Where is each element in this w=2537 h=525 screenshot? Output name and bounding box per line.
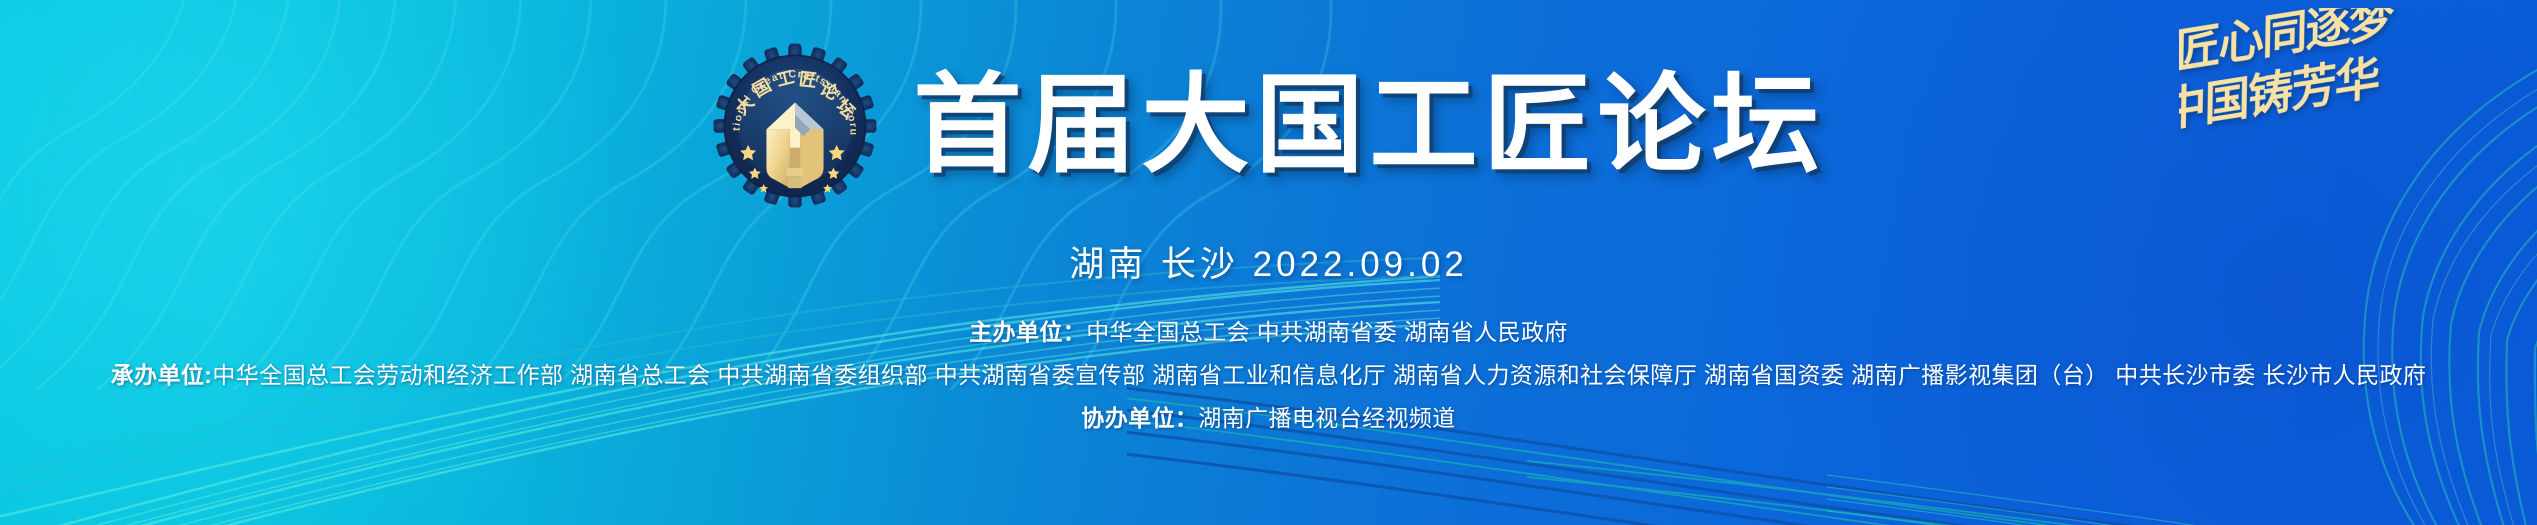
organizer-value-organizer: 中华全国总工会劳动和经济工作部 湖南省总工会 中共湖南省委组织部 中共湖南省委宣… <box>212 362 2426 388</box>
calligraphy-svg: 匠心同逐梦 中国铸芳华 <box>2179 8 2519 143</box>
organizer-line-coorganizer: 协办单位：湖南广播电视台经视频道 <box>1081 399 1455 433</box>
banner-content: National Great Craftsman Forum 大 国 工 匠 论… <box>0 0 2537 433</box>
page-title: 首届大国工匠论坛 <box>913 72 1825 180</box>
organizer-value-host: 中华全国总工会 中共湖南省委 湖南省人民政府 <box>1086 319 1568 345</box>
organizer-value-coorganizer: 湖南广播电视台经视频道 <box>1198 405 1455 431</box>
event-banner: National Great Craftsman Forum 大 国 工 匠 论… <box>0 0 2537 525</box>
organizer-label-organizer: 承办单位: <box>111 362 213 388</box>
organizer-label-coorganizer: 协办单位： <box>1081 405 1198 431</box>
calligraphy-slogan: 匠心同逐梦 中国铸芳华 <box>2179 8 2519 143</box>
organizer-block: 主办单位：中华全国总工会 中共湖南省委 湖南省人民政府 承办单位:中华全国总工会… <box>111 313 2427 433</box>
gear-emblem-icon: National Great Craftsman Forum 大 国 工 匠 论… <box>711 42 879 210</box>
title-row: National Great Craftsman Forum 大 国 工 匠 论… <box>711 42 1825 210</box>
svg-text:匠: 匠 <box>798 69 818 92</box>
organizer-line-host: 主办单位：中华全国总工会 中共湖南省委 湖南省人民政府 <box>969 313 1568 347</box>
organizer-line-organizer: 承办单位:中华全国总工会劳动和经济工作部 湖南省总工会 中共湖南省委组织部 中共… <box>111 356 2427 390</box>
event-location-date: 湖南 长沙 2022.09.02 <box>1069 236 1468 287</box>
organizer-label-host: 主办单位： <box>969 319 1086 345</box>
